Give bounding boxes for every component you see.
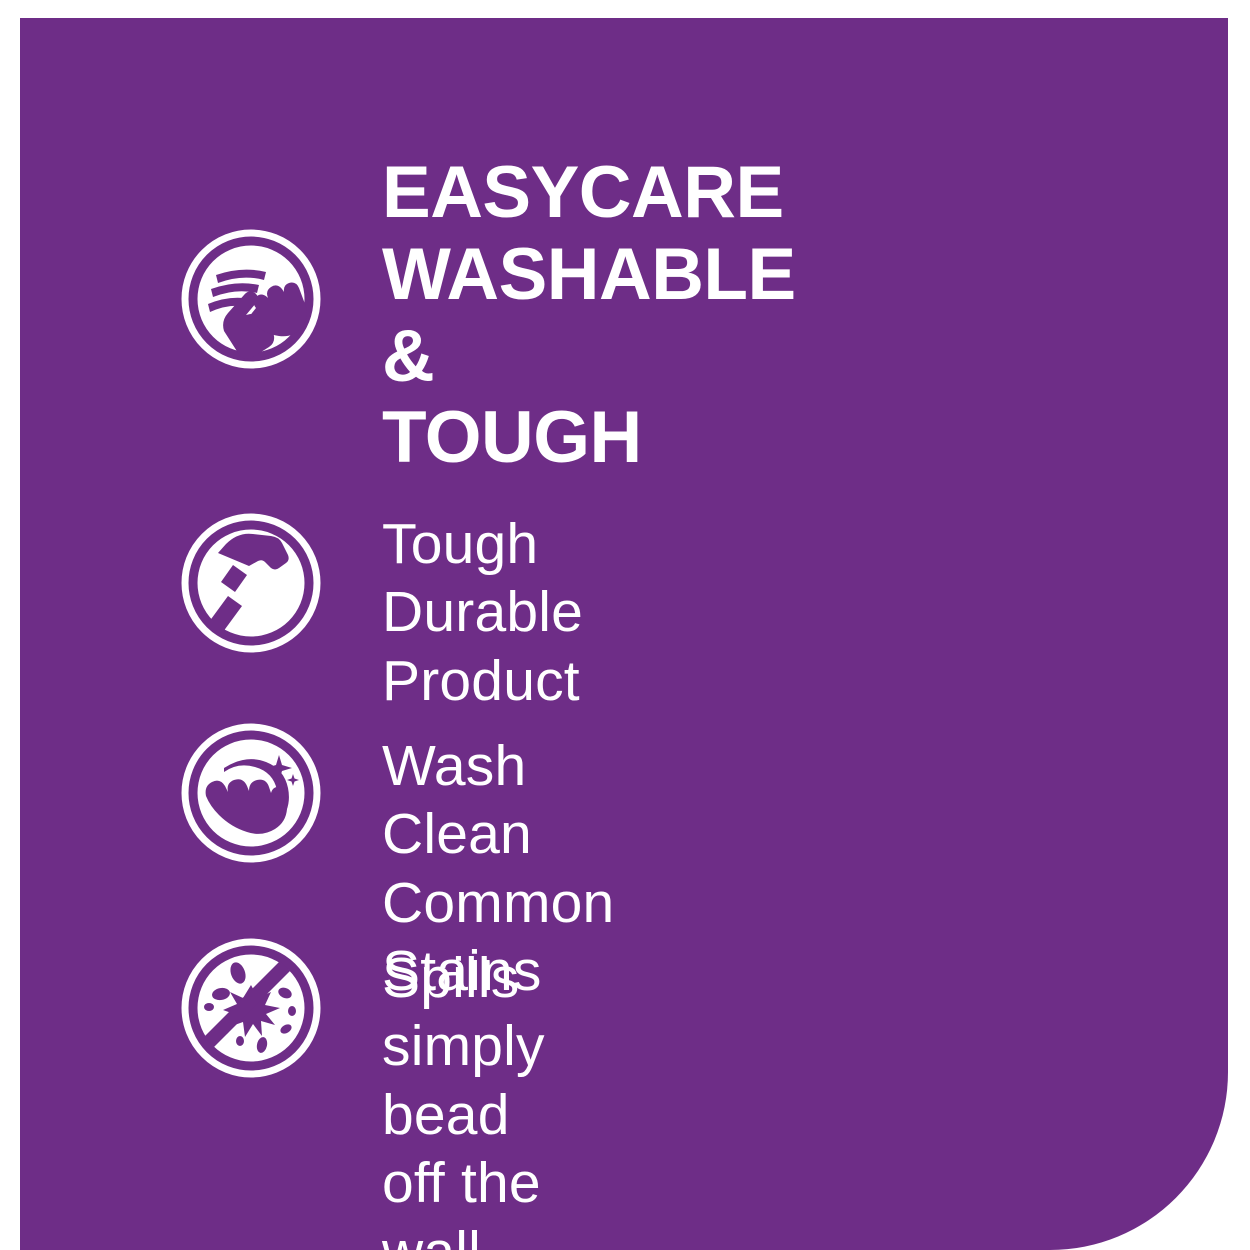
feature-label-spills-bead: Spills simply bead off the wall — [382, 944, 545, 1250]
easycare-feature-panel: EASYCARE WASHABLE & TOUGH — [0, 0, 1250, 1250]
hand-wiping-sparkle-icon — [180, 722, 322, 864]
washing-hands-icon — [180, 228, 322, 370]
hammer-icon — [180, 512, 322, 654]
feature-label-easycare: EASYCARE WASHABLE & TOUGH — [382, 152, 796, 479]
feature-list: EASYCARE WASHABLE & TOUGH — [0, 0, 1250, 1250]
feature-label-tough-durable: Tough Durable Product — [382, 510, 583, 715]
no-splash-stain-icon — [180, 937, 322, 1079]
